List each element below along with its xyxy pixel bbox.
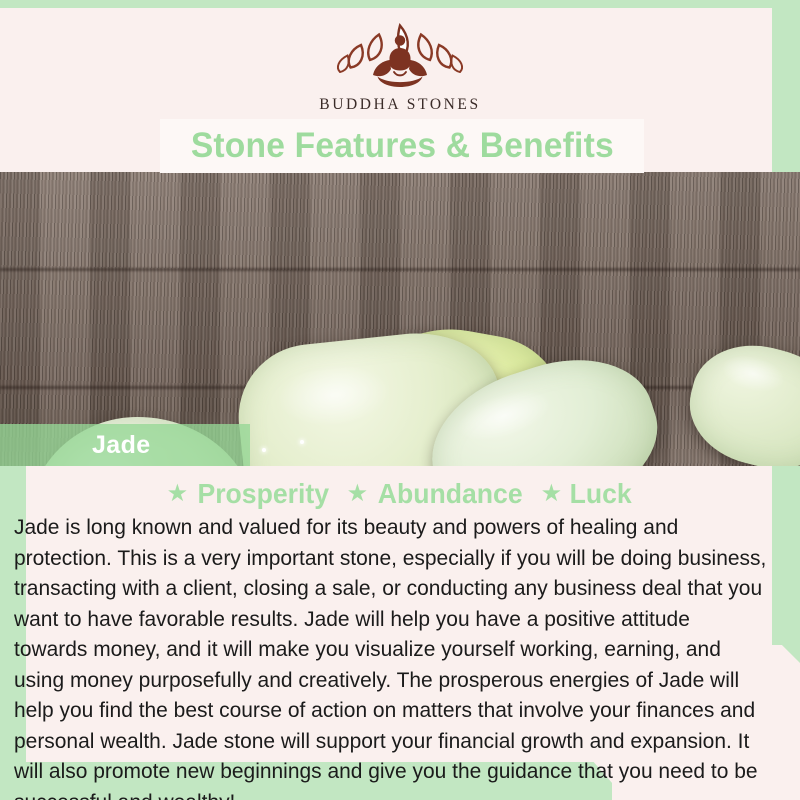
benefit-label: Luck — [570, 478, 632, 510]
star-icon: ★ — [347, 482, 369, 506]
stone-name-label: Jade — [0, 431, 151, 460]
benefit-item-prosperity: ★ Prosperity — [167, 478, 333, 510]
section-title-banner: Stone Features & Benefits — [160, 119, 644, 173]
benefit-item-abundance: ★ Abundance — [347, 478, 527, 510]
frame-right-bevel — [772, 615, 800, 663]
stone-photo — [0, 172, 800, 466]
stone-description: Jade is long known and valued for its be… — [14, 512, 769, 800]
page-title: Stone Features & Benefits — [190, 126, 613, 166]
star-icon: ★ — [167, 482, 189, 506]
brand-header: BUDDHA STONES — [0, 18, 800, 114]
benefit-item-luck: ★ Luck — [541, 478, 634, 510]
star-icon: ★ — [541, 482, 563, 506]
benefit-label: Prosperity — [198, 478, 330, 510]
sparkle-highlight — [262, 448, 266, 452]
benefits-row: ★ Prosperity ★ Abundance ★ Luck — [0, 478, 800, 510]
frame-top-bar — [0, 0, 800, 8]
infographic-card: BUDDHA STONES Stone Features & Benefits … — [0, 0, 800, 800]
sparkle-highlight — [300, 440, 304, 444]
wood-seam — [0, 268, 800, 271]
brand-name: BUDDHA STONES — [0, 96, 800, 114]
lotus-meditation-logo-icon — [325, 18, 475, 90]
benefit-label: Abundance — [378, 478, 523, 510]
stone-name-ribbon: Jade — [0, 424, 250, 466]
